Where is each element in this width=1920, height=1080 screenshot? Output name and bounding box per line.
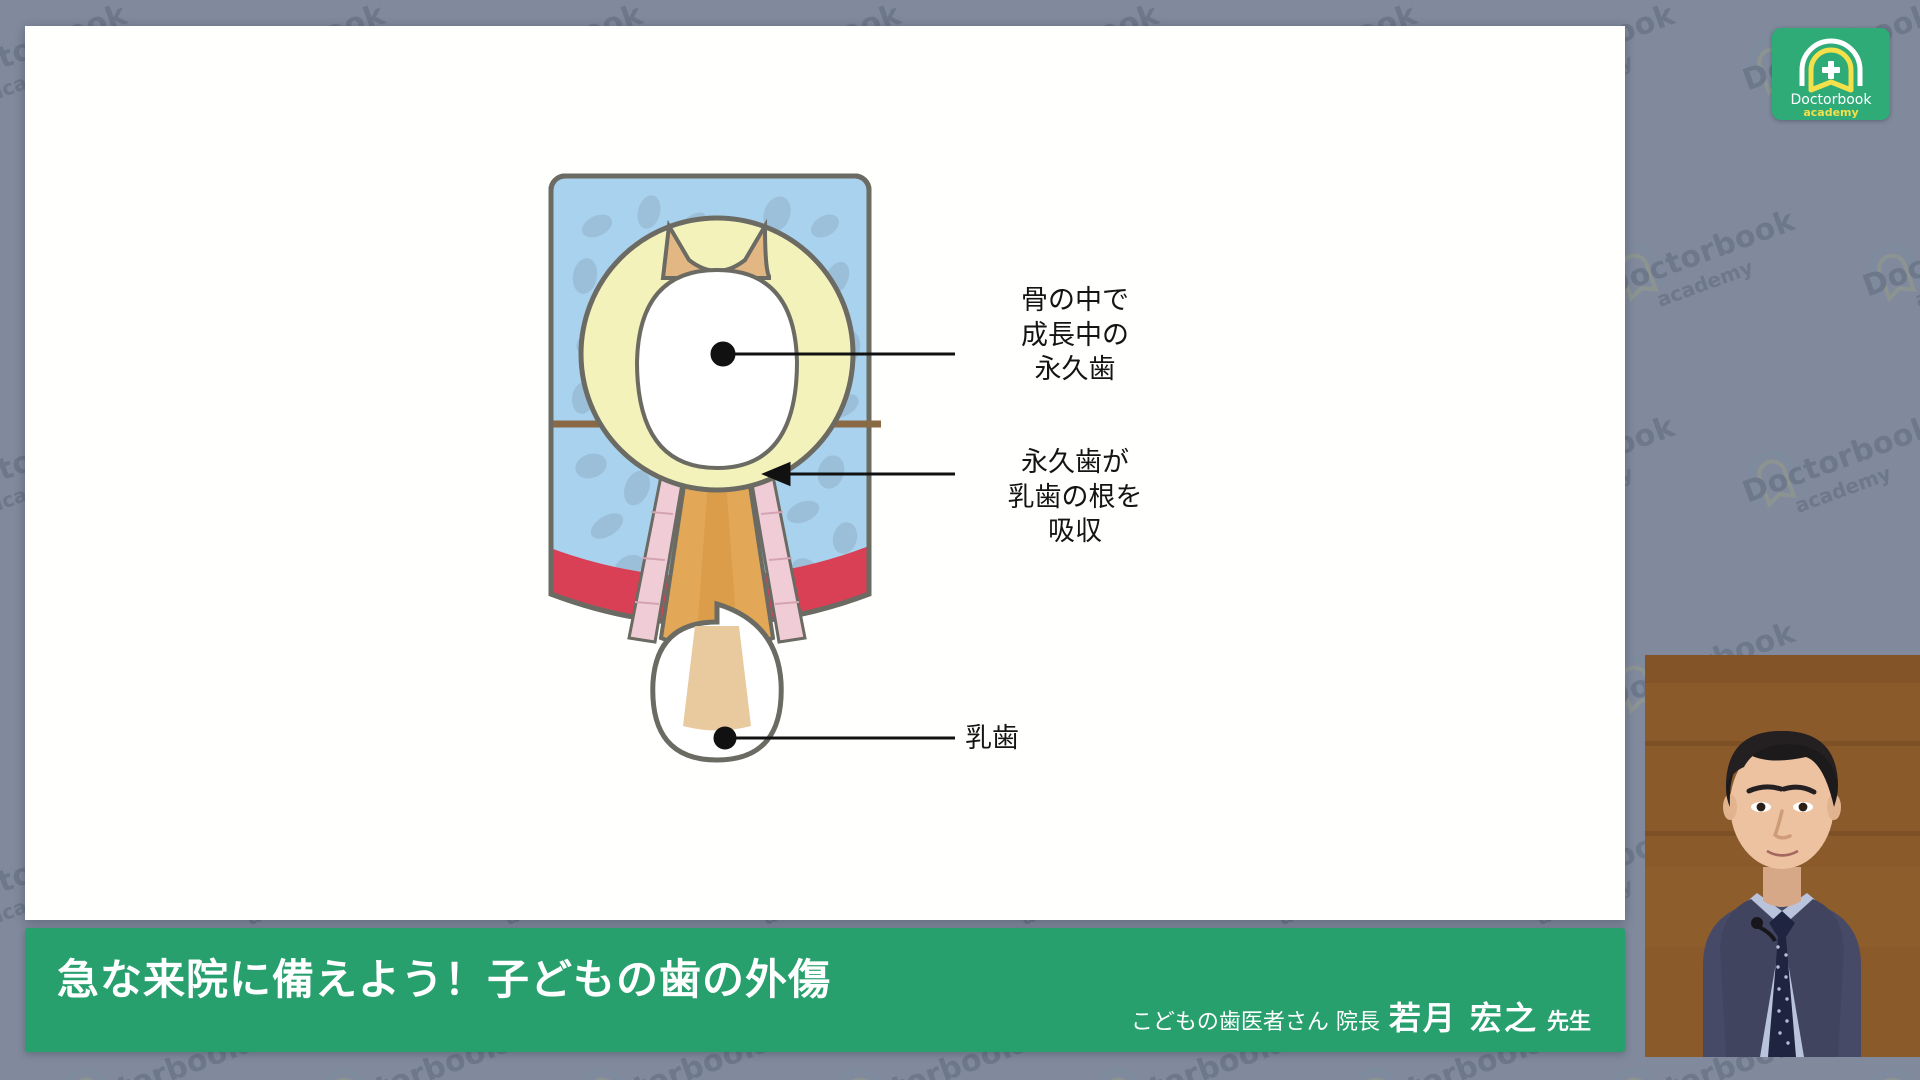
watermark-subtitle: academy	[1653, 255, 1756, 312]
leader-dot-permanent	[712, 343, 734, 365]
cross-icon	[1822, 61, 1840, 79]
watermark-arch-icon	[1083, 1056, 1155, 1080]
label-root-resorption: 永久歯が 乳歯の根を 吸収	[965, 446, 1185, 550]
watermark-arch-icon	[1599, 1056, 1671, 1080]
watermark-title: Doctorbook	[1600, 203, 1800, 304]
slide-card: 骨の中で 成長中の 永久歯 永久歯が 乳歯の根を 吸収 乳歯	[25, 26, 1625, 920]
watermark-arch-icon	[0, 438, 3, 515]
speaker-webcam-feed[interactable]	[1645, 655, 1920, 1057]
watermark-arch-icon	[309, 1056, 381, 1080]
watermark-subtitle: academy	[1911, 255, 1920, 312]
doctorbook-academy-logo[interactable]: Doctorbook academy	[1772, 28, 1890, 120]
tooth-cross-section-diagram	[25, 26, 1625, 920]
watermark-tile: Doctorbookacademy	[1718, 336, 1920, 619]
leader-dot-primary	[715, 728, 735, 748]
watermark-title: Doctorbook	[1858, 203, 1920, 304]
watermark-arch-icon	[51, 1056, 123, 1080]
presenter-affiliation: こどもの歯医者さん 院長	[1131, 1004, 1380, 1036]
lecture-title: 急な来院に備えよう！子どもの歯の外傷	[57, 946, 831, 1007]
watermark-tile: Doctorbookacademy	[1838, 130, 1920, 413]
watermark-arch-icon	[1857, 1056, 1920, 1080]
watermark-arch-icon	[825, 1056, 897, 1080]
watermark-arch-icon	[1737, 438, 1809, 515]
watermark-arch-icon	[1857, 232, 1920, 309]
watermark-tile: Doctorbookacademy	[1580, 130, 1887, 413]
watermark-subtitle: academy	[1791, 461, 1894, 518]
presenter-name: 若月 宏之	[1389, 993, 1538, 1039]
presenter-credit: こどもの歯医者さん 院長 若月 宏之 先生	[1131, 993, 1591, 1039]
watermark-arch-icon	[0, 850, 3, 927]
watermark-arch-icon	[567, 1056, 639, 1080]
arch-book-mark	[1802, 41, 1860, 90]
label-primary-tooth: 乳歯	[965, 722, 1185, 757]
player-stage: DoctorbookacademyDoctorbookacademyDoctor…	[0, 0, 1920, 1080]
watermark-arch-icon	[0, 26, 3, 103]
watermark-arch-icon	[1341, 1056, 1413, 1080]
logo-subtitle: academy	[1803, 106, 1858, 119]
label-permanent-tooth: 骨の中で 成長中の 永久歯	[965, 284, 1185, 388]
presenter-honorific: 先生	[1547, 1004, 1591, 1036]
watermark-title: Doctorbook	[1738, 409, 1920, 510]
lecture-title-bar: 急な来院に備えよう！子どもの歯の外傷 こどもの歯医者さん 院長 若月 宏之 先生	[25, 928, 1625, 1052]
